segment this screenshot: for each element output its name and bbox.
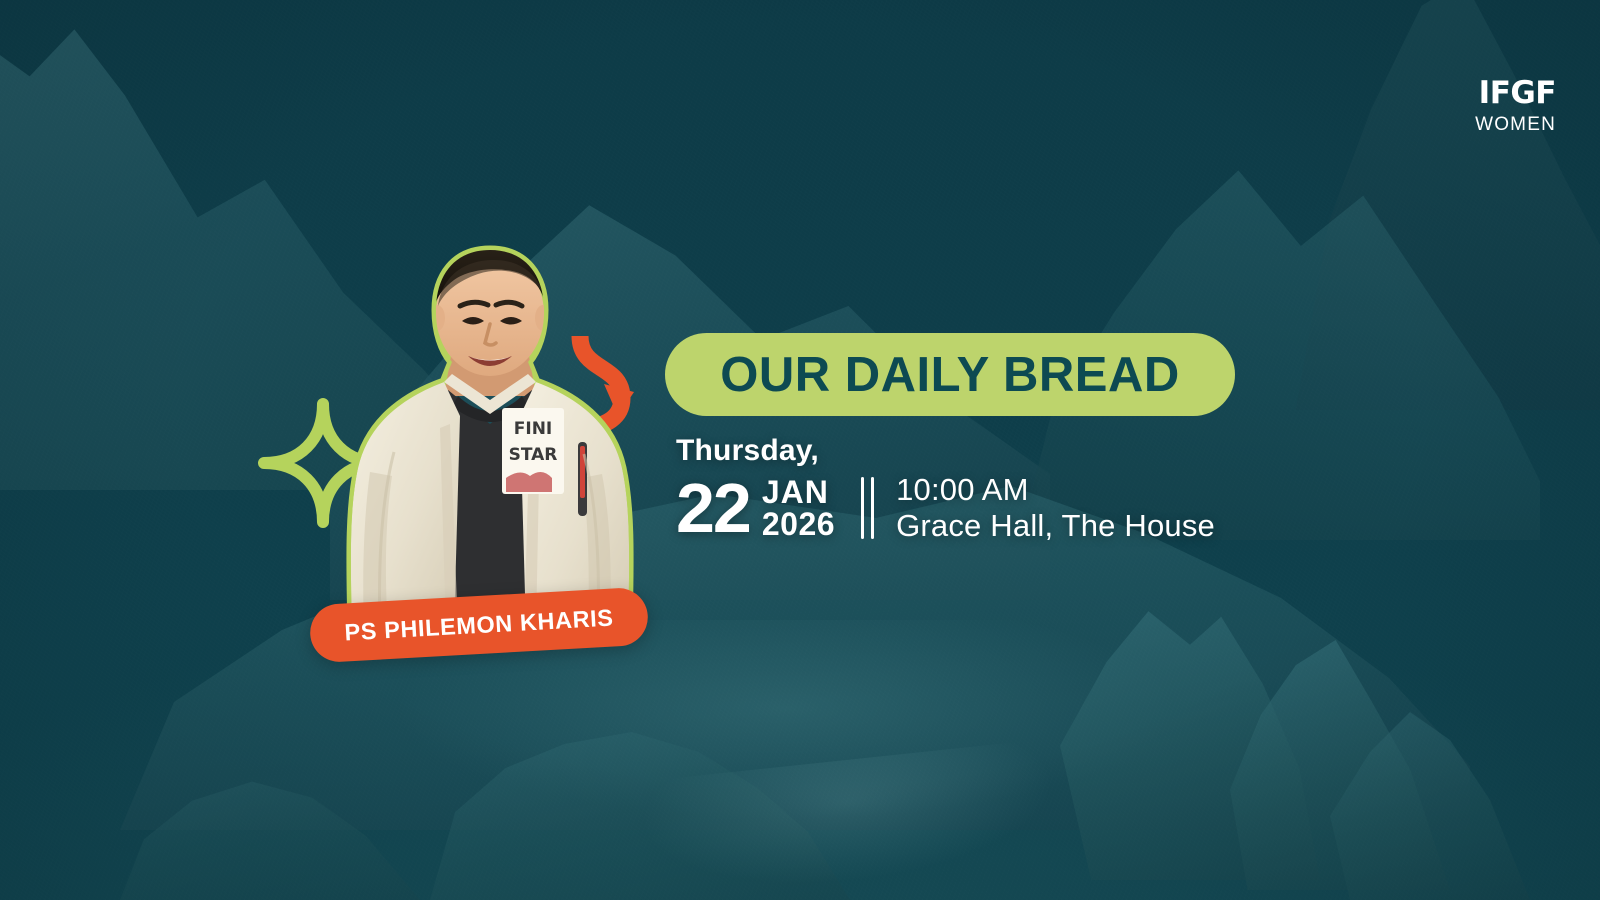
event-location: Grace Hall, The House — [896, 510, 1215, 543]
event-weekday: Thursday, — [676, 434, 1215, 468]
brand-logo-main-text: IFGF — [1475, 78, 1556, 109]
brand-logo: IFGF WOMEN — [1475, 78, 1556, 134]
speaker-photo: FINI STAR — [330, 210, 650, 630]
double-bar-divider-icon — [861, 477, 874, 539]
event-day-number: 22 — [676, 476, 750, 540]
event-details: Thursday, 22 JAN 2026 10:00 AM Grace Hal… — [676, 434, 1215, 543]
event-poster: IFGF WOMEN — [0, 0, 1600, 900]
event-month: JAN — [762, 476, 835, 509]
event-venue-block: 10:00 AM Grace Hall, The House — [896, 474, 1215, 543]
speaker-name-text: PS PHILEMON KHARIS — [344, 604, 614, 646]
event-month-year: JAN 2026 — [762, 476, 835, 541]
brand-logo-sub-text: WOMEN — [1475, 115, 1556, 134]
svg-text:STAR: STAR — [509, 445, 558, 465]
event-dateline: 22 JAN 2026 10:00 AM Grace Hall, The Hou… — [676, 474, 1215, 543]
event-title-pill: OUR DAILY BREAD — [665, 333, 1235, 416]
svg-text:FINI: FINI — [514, 419, 553, 439]
event-time: 10:00 AM — [896, 474, 1215, 507]
event-title-text: OUR DAILY BREAD — [720, 347, 1179, 403]
event-year: 2026 — [762, 508, 835, 541]
jacket-patch: FINI STAR — [502, 408, 564, 494]
